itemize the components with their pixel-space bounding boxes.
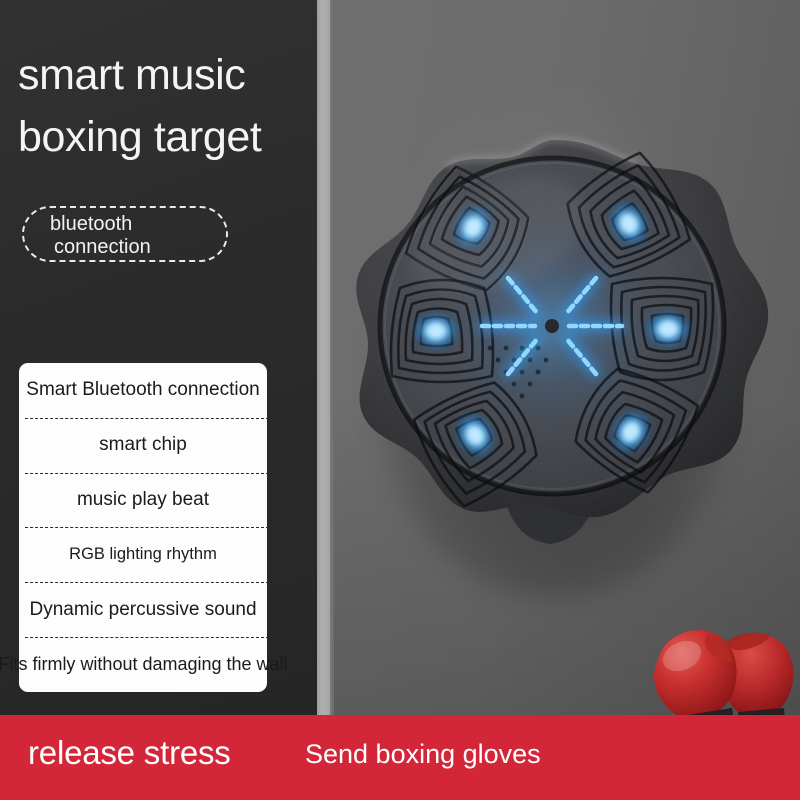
feature-item: Fits firmly without damaging the wall xyxy=(19,637,267,692)
feature-label: smart chip xyxy=(99,434,187,456)
boxing-target-device xyxy=(330,108,770,608)
feature-list: Smart Bluetooth connection smart chip mu… xyxy=(19,363,267,692)
feature-item: music play beat xyxy=(19,473,267,528)
advertisement-banner: smart music boxing target bluetooth conn… xyxy=(0,0,800,800)
headline-group: smart music boxing target xyxy=(18,44,378,168)
headline-line-2: boxing target xyxy=(18,106,378,168)
feature-label: RGB lighting rhythm xyxy=(69,545,217,564)
feature-label: Smart Bluetooth connection xyxy=(26,379,259,401)
banner-right-text: Send boxing gloves xyxy=(305,739,541,770)
feature-label: Fits firmly without damaging the wall xyxy=(0,654,288,675)
feature-item: smart chip xyxy=(19,418,267,473)
device-illustration xyxy=(330,108,770,608)
headline-line-1: smart music xyxy=(18,44,378,106)
feature-item: RGB lighting rhythm xyxy=(19,527,267,582)
bluetooth-badge-line-2: connection xyxy=(50,236,151,259)
bluetooth-connection-badge: bluetooth connection xyxy=(22,206,228,262)
bluetooth-badge-line-1: bluetooth xyxy=(50,213,151,236)
bottom-banner: release stress Send boxing gloves xyxy=(0,715,800,800)
banner-left-text: release stress xyxy=(28,734,231,772)
feature-label: music play beat xyxy=(77,489,209,511)
feature-label: Dynamic percussive sound xyxy=(29,599,256,621)
feature-item: Dynamic percussive sound xyxy=(19,582,267,637)
feature-item: Smart Bluetooth connection xyxy=(19,363,267,418)
bluetooth-badge-text: bluetooth connection xyxy=(50,213,151,259)
